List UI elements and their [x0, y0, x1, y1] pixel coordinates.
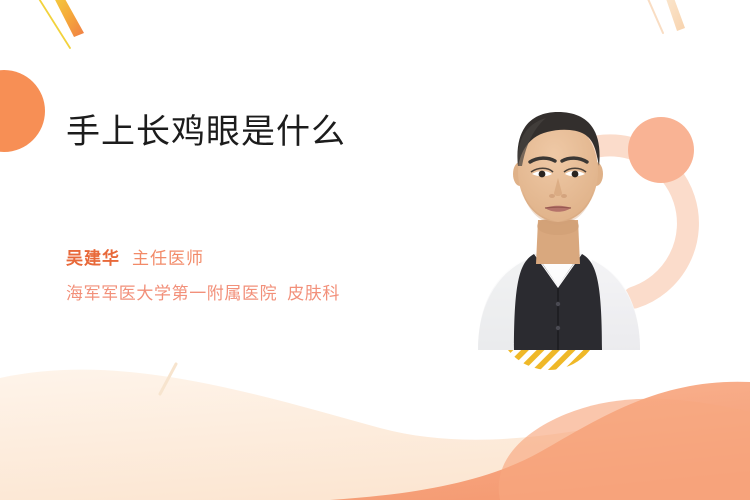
wave-salmon-bottom-secondary [499, 399, 750, 500]
doctor-name: 吴建华 [66, 249, 120, 268]
diagonal-line-cream-bottom [160, 364, 176, 394]
wave-pale-peach-bottom [0, 370, 750, 500]
diagonal-line-peach-topright [645, 0, 663, 33]
cover-card: 手上长鸡眼是什么 吴建华主任医师 海军军医大学第一附属医院皮肤科 [0, 0, 750, 500]
doctor-affiliation-line: 海军军医大学第一附属医院皮肤科 [66, 283, 466, 305]
doctor-hospital: 海军军医大学第一附属医院 [66, 284, 277, 303]
doctor-credit-block: 吴建华主任医师 海军军医大学第一附属医院皮肤科 [66, 248, 466, 305]
page-title: 手上长鸡眼是什么 [66, 112, 446, 153]
doctor-portrait [468, 88, 648, 350]
title-block: 手上长鸡眼是什么 [66, 112, 446, 153]
diagonal-bar-peach-topright [663, 0, 685, 31]
doctor-name-line: 吴建华主任医师 [66, 248, 466, 270]
diagonal-line-yellow-topleft [36, 0, 70, 48]
diagonal-bar-orange-topleft [50, 0, 84, 37]
circle-orange-left [0, 70, 45, 152]
doctor-department: 皮肤科 [287, 284, 340, 303]
wave-salmon-bottomright [330, 382, 750, 500]
doctor-professional-title: 主任医师 [132, 249, 204, 268]
